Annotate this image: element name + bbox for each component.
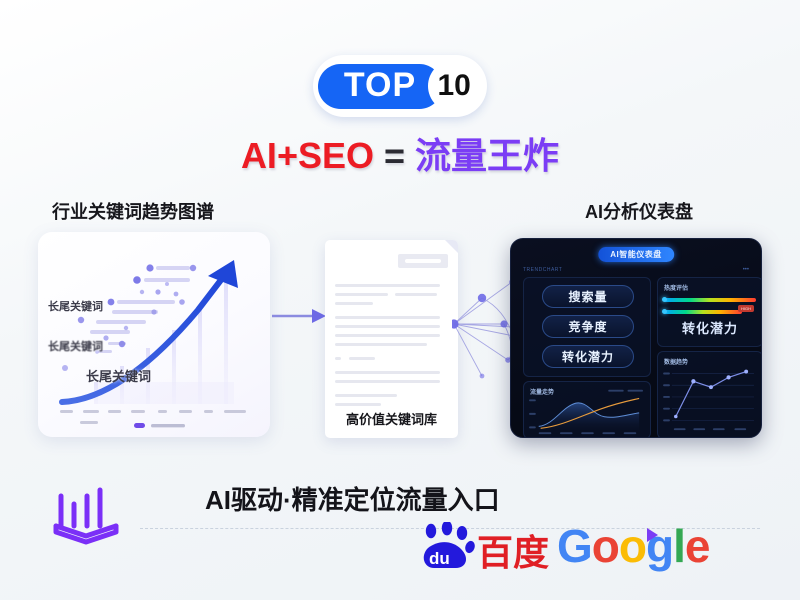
tail-keyword-label: 长尾关键词	[48, 338, 103, 354]
doc-text-line	[335, 371, 440, 374]
doc-text-line	[335, 316, 440, 319]
baidu-logo: du 百度	[418, 522, 549, 570]
headline-right: 流量王炸	[415, 135, 559, 176]
page-title: AI+SEO=流量王炸	[0, 127, 800, 179]
metric-button-search-volume[interactable]: 搜索量	[542, 285, 634, 308]
doc-text-line	[335, 302, 373, 305]
dashboard-title-badge: AI智能仪表盘	[598, 247, 674, 262]
google-letter: e	[685, 520, 710, 572]
google-letter: o	[592, 520, 619, 572]
top-badge-container: TOP 10	[0, 55, 800, 117]
google-logo: Google	[557, 523, 709, 569]
doc-text-line	[335, 325, 440, 328]
trend-axis-ticks	[60, 410, 246, 424]
bar-chart-3d-icon	[48, 482, 124, 548]
google-letter: G	[557, 520, 592, 572]
doc-text-line	[335, 403, 381, 406]
doc-text-line	[335, 293, 388, 296]
doc-text-line	[349, 357, 375, 360]
gauge-tag: HIGH	[738, 305, 754, 312]
baidu-paw-icon: du	[418, 522, 476, 570]
gauge-caption: 热度评估	[664, 283, 688, 292]
doc-text-line	[335, 394, 397, 397]
doc-text-line	[335, 334, 440, 337]
doc-text-line	[335, 343, 427, 346]
ai-dashboard-panel: AI智能仪表盘 TRENDCHART ••• 搜索量 竞争度 转化潜力 流量走势	[510, 238, 762, 438]
heat-gradient-bar-1	[664, 298, 756, 302]
metric-button-conversion-potential[interactable]: 转化潜力	[542, 345, 634, 368]
trend-chart-card: 长尾关键词 长尾关键词 长尾关键词	[38, 232, 270, 437]
section-label-trend: 行业关键词趋势图谱	[52, 198, 214, 224]
google-letter: o	[619, 520, 646, 572]
dashboard-line-chart-panel: 数据趋势	[657, 351, 762, 438]
dashboard-brand: TRENDCHART	[523, 267, 562, 273]
doc-text-line	[335, 380, 440, 383]
doc-text-line	[335, 284, 440, 287]
doc-header-inner	[405, 259, 441, 263]
heat-gradient-bar-2	[664, 310, 742, 314]
area-chart-svg	[524, 382, 650, 438]
top-badge-number: 10	[428, 60, 480, 112]
top-badge: TOP 10	[313, 55, 487, 117]
dashboard-gauge-panel: 热度评估 HIGH 转化潜力	[657, 277, 762, 347]
flow-arrow-icon	[272, 305, 328, 327]
doc-bullet	[335, 357, 341, 360]
play-triangle-icon	[647, 528, 658, 542]
doc-title: 高价值关键词库	[325, 409, 458, 428]
tail-keyword-label: 长尾关键词	[48, 298, 103, 314]
section-label-dashboard: AI分析仪表盘	[585, 198, 693, 224]
baidu-chinese-text: 百度	[477, 536, 549, 570]
dashboard-metrics-panel: 搜索量 竞争度 转化潜力	[523, 277, 651, 377]
top-badge-label: TOP	[318, 64, 442, 109]
dashboard-menu-icon[interactable]: •••	[743, 267, 749, 273]
gauge-knob[interactable]	[662, 297, 667, 302]
trend-chart-svg	[38, 232, 270, 437]
metric-button-competition[interactable]: 竞争度	[542, 315, 634, 338]
line-chart-svg	[658, 352, 762, 438]
google-letter: l	[673, 520, 685, 572]
search-engine-logos: du 百度 Google	[418, 522, 710, 570]
baidu-du-mark: du	[429, 549, 450, 568]
headline-left: AI+SEO	[241, 135, 374, 176]
tail-keyword-label: 长尾关键词	[86, 366, 151, 385]
doc-text-line	[395, 293, 437, 296]
page-fold-icon	[445, 240, 458, 253]
dashboard-area-chart-panel: 流量走势	[523, 381, 651, 438]
footer-slogan: AI驱动·精准定位流量入口	[205, 480, 500, 517]
keyword-library-document: 高价值关键词库	[325, 240, 458, 438]
gauge-knob[interactable]	[662, 309, 667, 314]
headline-equals: =	[384, 135, 405, 176]
trend-legend	[134, 423, 185, 428]
gauge-overlay-label: 转化潜力	[658, 318, 762, 337]
